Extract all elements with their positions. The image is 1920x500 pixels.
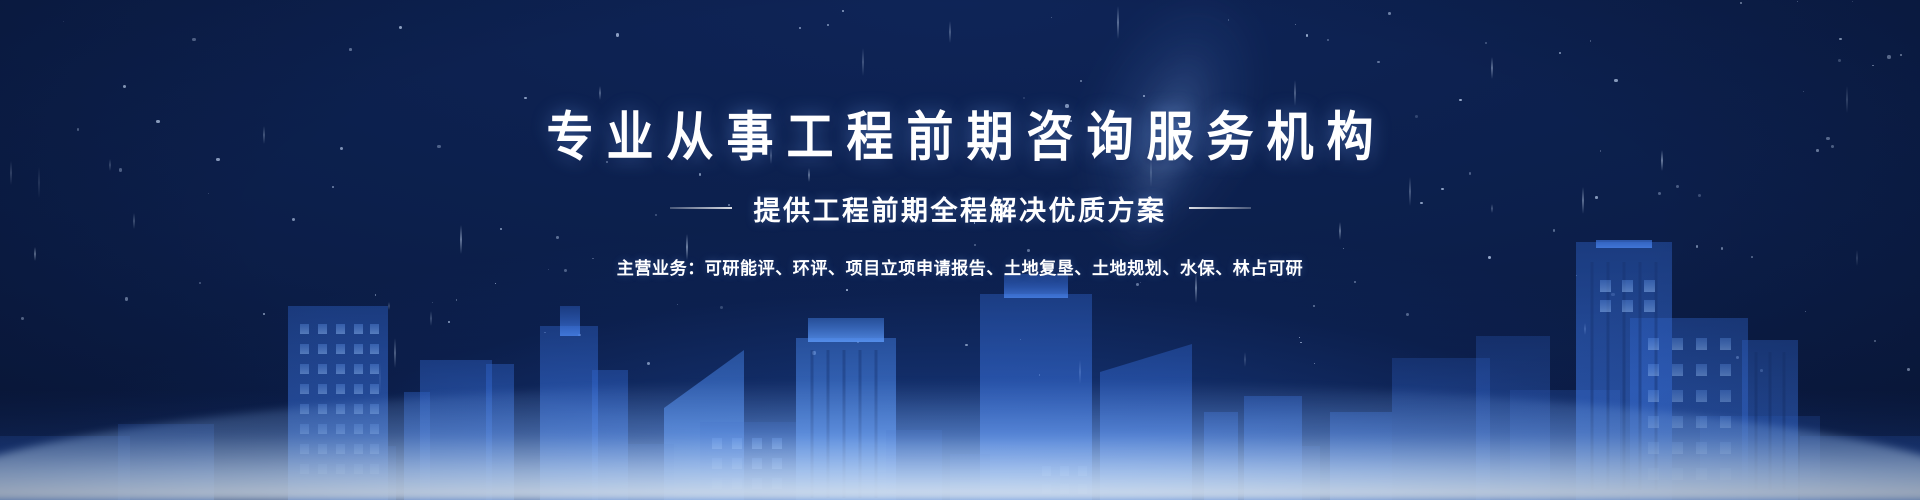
banner-business-scope: 主营业务：可研能评、环评、项目立项申请报告、土地复垦、土地规划、水保、林占可研	[617, 254, 1303, 279]
banner-subtitle: 提供工程前期全程解决优质方案	[754, 189, 1167, 228]
hero-banner: 专业从事工程前期咨询服务机构 提供工程前期全程解决优质方案 主营业务：可研能评、…	[0, 0, 1920, 500]
rule-right-decoration	[1189, 207, 1251, 209]
rule-left-decoration	[670, 207, 732, 209]
banner-headline: 专业从事工程前期咨询服务机构	[534, 108, 1387, 167]
banner-subtitle-row: 提供工程前期全程解决优质方案	[670, 189, 1251, 228]
banner-content: 专业从事工程前期咨询服务机构 提供工程前期全程解决优质方案 主营业务：可研能评、…	[0, 0, 1920, 500]
